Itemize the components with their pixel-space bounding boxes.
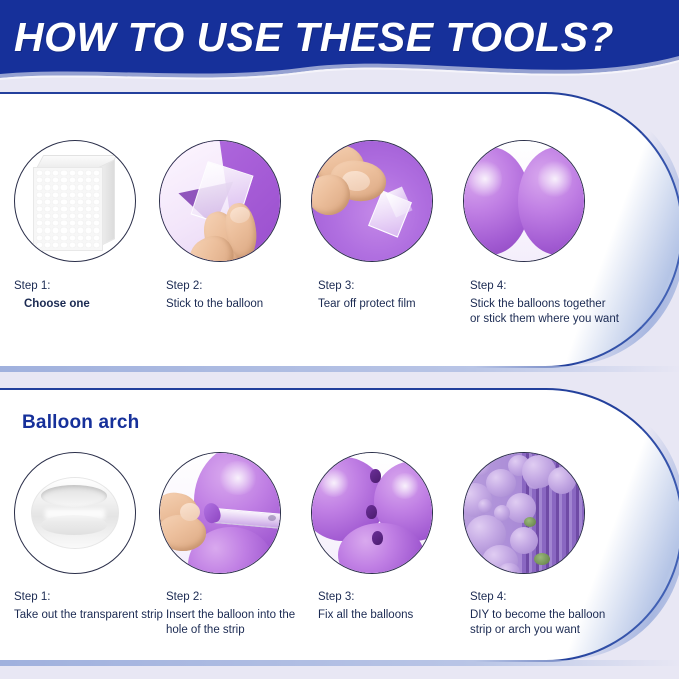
caption-glue-step-3: Step 3: Tear off protect film bbox=[318, 279, 478, 312]
balloon-arch-decoration-art bbox=[464, 453, 584, 573]
step-text: Stick the balloons togetheror stick them… bbox=[470, 297, 645, 327]
transparent-tape-roll-art bbox=[15, 453, 135, 573]
step-label: Step 3: bbox=[318, 279, 478, 294]
caption-arch-step-2: Step 2: Insert the balloon into thehole … bbox=[166, 590, 326, 638]
balloon-into-strip-art bbox=[160, 453, 280, 573]
step-label: Step 2: bbox=[166, 279, 326, 294]
step-label: Step 3: bbox=[318, 590, 478, 605]
transparent-tape-roll-image bbox=[14, 452, 136, 574]
caption-glue-step-4: Step 4: Stick the balloons togetheror st… bbox=[470, 279, 645, 327]
tearing-protect-film-art bbox=[312, 141, 432, 261]
caption-arch-step-3: Step 3: Fix all the balloons bbox=[318, 590, 478, 623]
balloon-arch-decoration-image bbox=[463, 452, 585, 574]
instruction-infographic: HOW TO USE THESE TOOLS? bbox=[0, 0, 679, 679]
step-text: Tear off protect film bbox=[318, 297, 478, 312]
caption-arch-step-4: Step 4: DIY to become the balloonstrip o… bbox=[470, 590, 640, 638]
glue-dot-sheet-art bbox=[15, 141, 135, 261]
page-title: HOW TO USE THESE TOOLS? bbox=[14, 14, 614, 61]
caption-glue-step-1: Step 1: Choose one bbox=[14, 279, 174, 312]
fixed-balloons-art bbox=[312, 453, 432, 573]
hand-peeling-film-art bbox=[160, 141, 280, 261]
step-text: Insert the balloon into thehole of the s… bbox=[166, 608, 326, 638]
balloon-into-strip-image bbox=[159, 452, 281, 574]
step-text: Choose one bbox=[14, 297, 174, 312]
step-text: Stick to the balloon bbox=[166, 297, 326, 312]
step-text: DIY to become the balloonstrip or arch y… bbox=[470, 608, 640, 638]
glue-dot-sheet-image bbox=[14, 140, 136, 262]
step-label: Step 2: bbox=[166, 590, 326, 605]
two-balloons-stuck-art bbox=[464, 141, 584, 261]
fixed-balloons-image bbox=[311, 452, 433, 574]
step-text: Take out the transparent strip bbox=[14, 608, 184, 623]
step-label: Step 1: bbox=[14, 590, 184, 605]
section-panel-glue-dots: Step 1: Choose one Step 2: Stick to the … bbox=[0, 92, 679, 368]
step-label: Step 4: bbox=[470, 279, 645, 294]
caption-arch-step-1: Step 1: Take out the transparent strip bbox=[14, 590, 184, 623]
two-balloons-stuck-image bbox=[463, 140, 585, 262]
caption-glue-step-2: Step 2: Stick to the balloon bbox=[166, 279, 326, 312]
hand-peeling-film-image bbox=[159, 140, 281, 262]
step-text: Fix all the balloons bbox=[318, 608, 478, 623]
step-label: Step 1: bbox=[14, 279, 174, 294]
header-banner: HOW TO USE THESE TOOLS? bbox=[0, 0, 679, 88]
section-heading-balloon-arch: Balloon arch bbox=[22, 412, 139, 434]
step-label: Step 4: bbox=[470, 590, 640, 605]
tearing-protect-film-image bbox=[311, 140, 433, 262]
